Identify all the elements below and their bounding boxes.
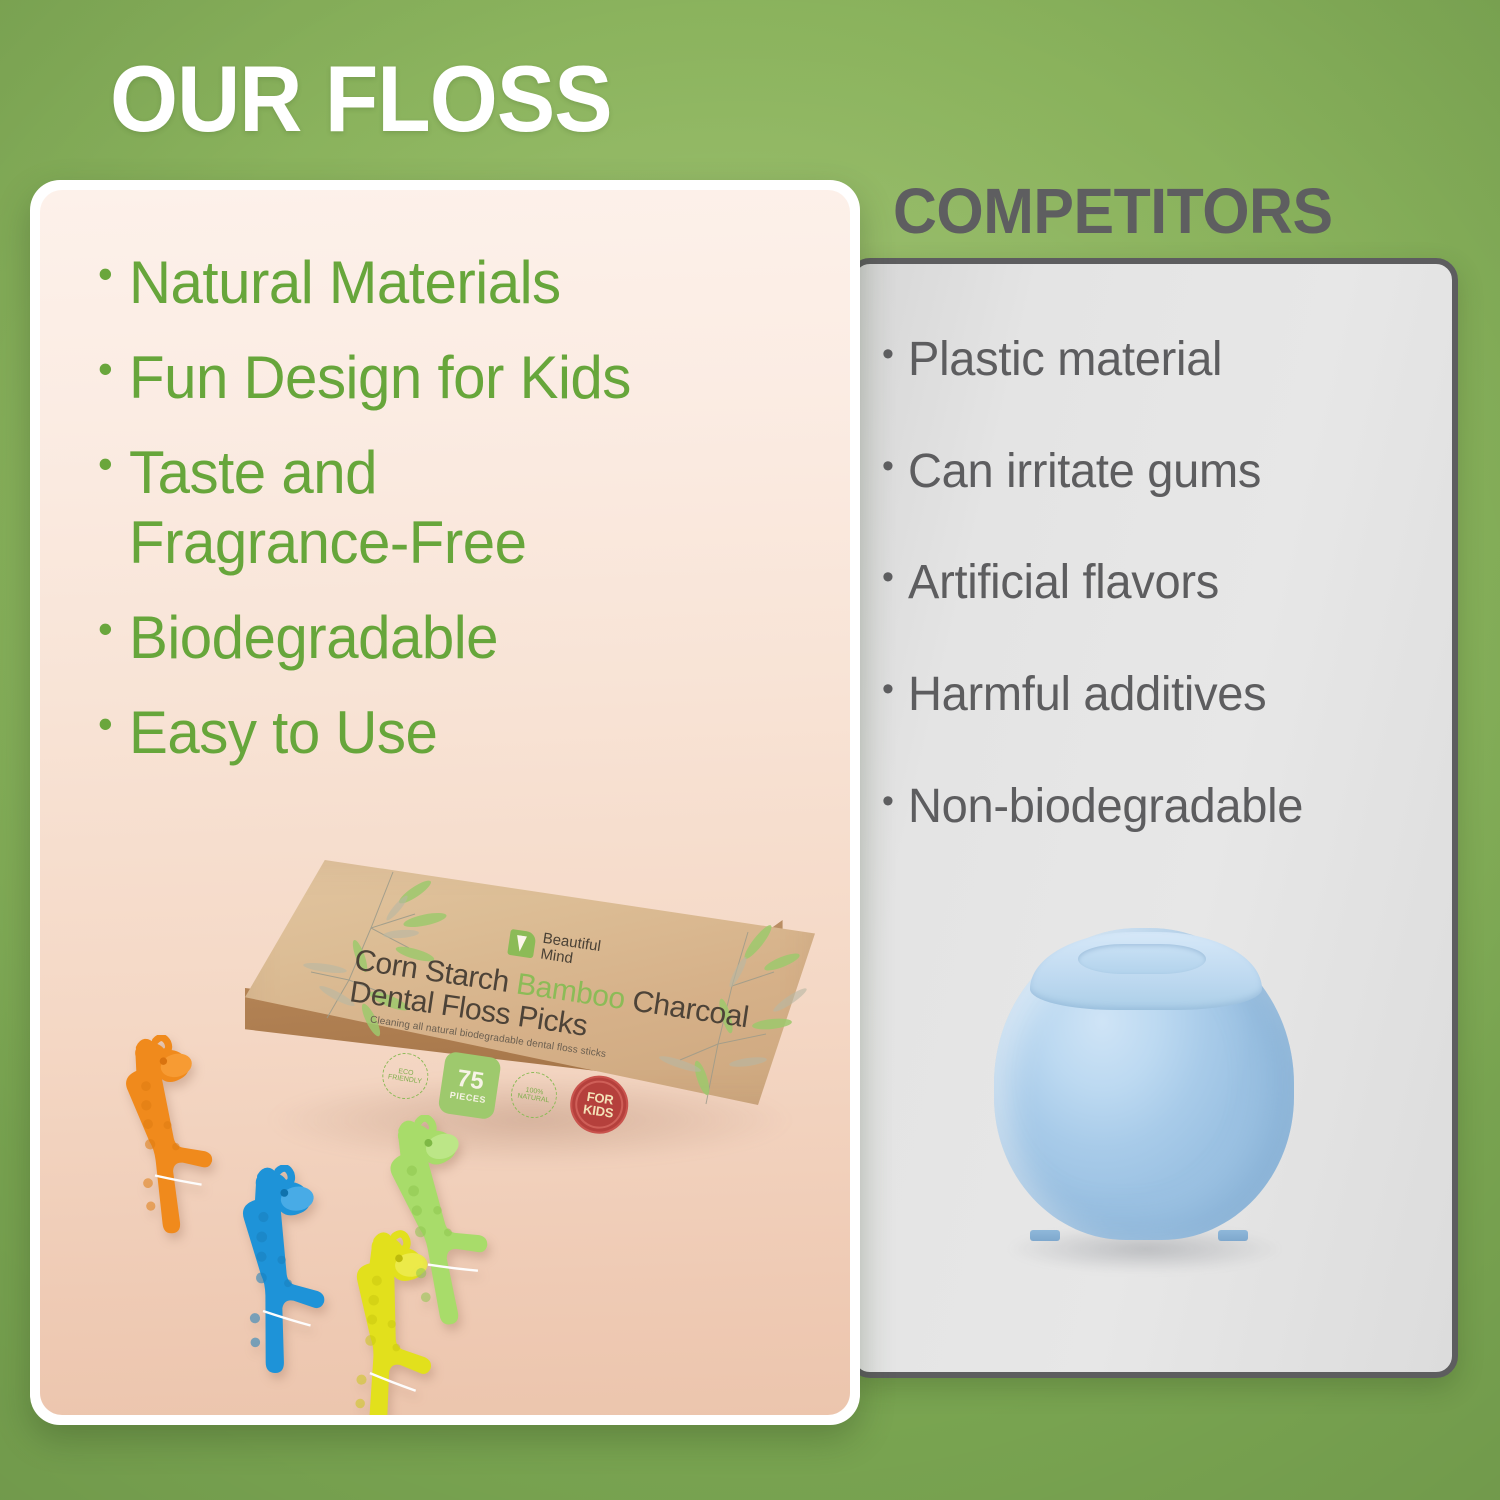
- bullet-icon: •: [882, 667, 894, 705]
- bullet-icon: •: [882, 332, 894, 370]
- page-title: OUR FLOSS: [110, 50, 612, 149]
- list-item: • Artificial flavors: [882, 555, 1427, 611]
- our-floss-card: • Natural Materials • Fun Design for Kid…: [30, 180, 860, 1425]
- competitor-product-image: [974, 904, 1314, 1294]
- competitors-drawback-list: • Plastic material • Can irritate gums •…: [882, 332, 1427, 890]
- bullet-icon: •: [882, 444, 894, 482]
- list-item: • Can irritate gums: [882, 444, 1427, 500]
- list-item-label: Artificial flavors: [908, 555, 1219, 611]
- floss-container-foot-right: [1218, 1230, 1248, 1241]
- list-item: • Non-biodegradable: [882, 779, 1427, 835]
- infographic-canvas: COMPETITORS • Plastic material • Can irr…: [0, 0, 1500, 1500]
- list-item-label: Non-biodegradable: [908, 779, 1303, 835]
- competitors-card: • Plastic material • Can irritate gums •…: [848, 258, 1458, 1378]
- giraffe-floss-pick-green: [358, 1115, 510, 1343]
- competitors-heading: COMPETITORS: [893, 178, 1333, 245]
- list-item-label: Harmful additives: [908, 667, 1266, 723]
- list-item: • Harmful additives: [882, 667, 1427, 723]
- list-item-label: Can irritate gums: [908, 444, 1261, 500]
- floss-container-lid-notch: [1078, 944, 1206, 974]
- bullet-icon: •: [882, 779, 894, 817]
- floss-picks-group: [40, 190, 850, 1415]
- floss-container-foot-left: [1030, 1230, 1060, 1241]
- list-item: • Plastic material: [882, 332, 1427, 388]
- bullet-icon: •: [882, 555, 894, 593]
- list-item-label: Plastic material: [908, 332, 1222, 388]
